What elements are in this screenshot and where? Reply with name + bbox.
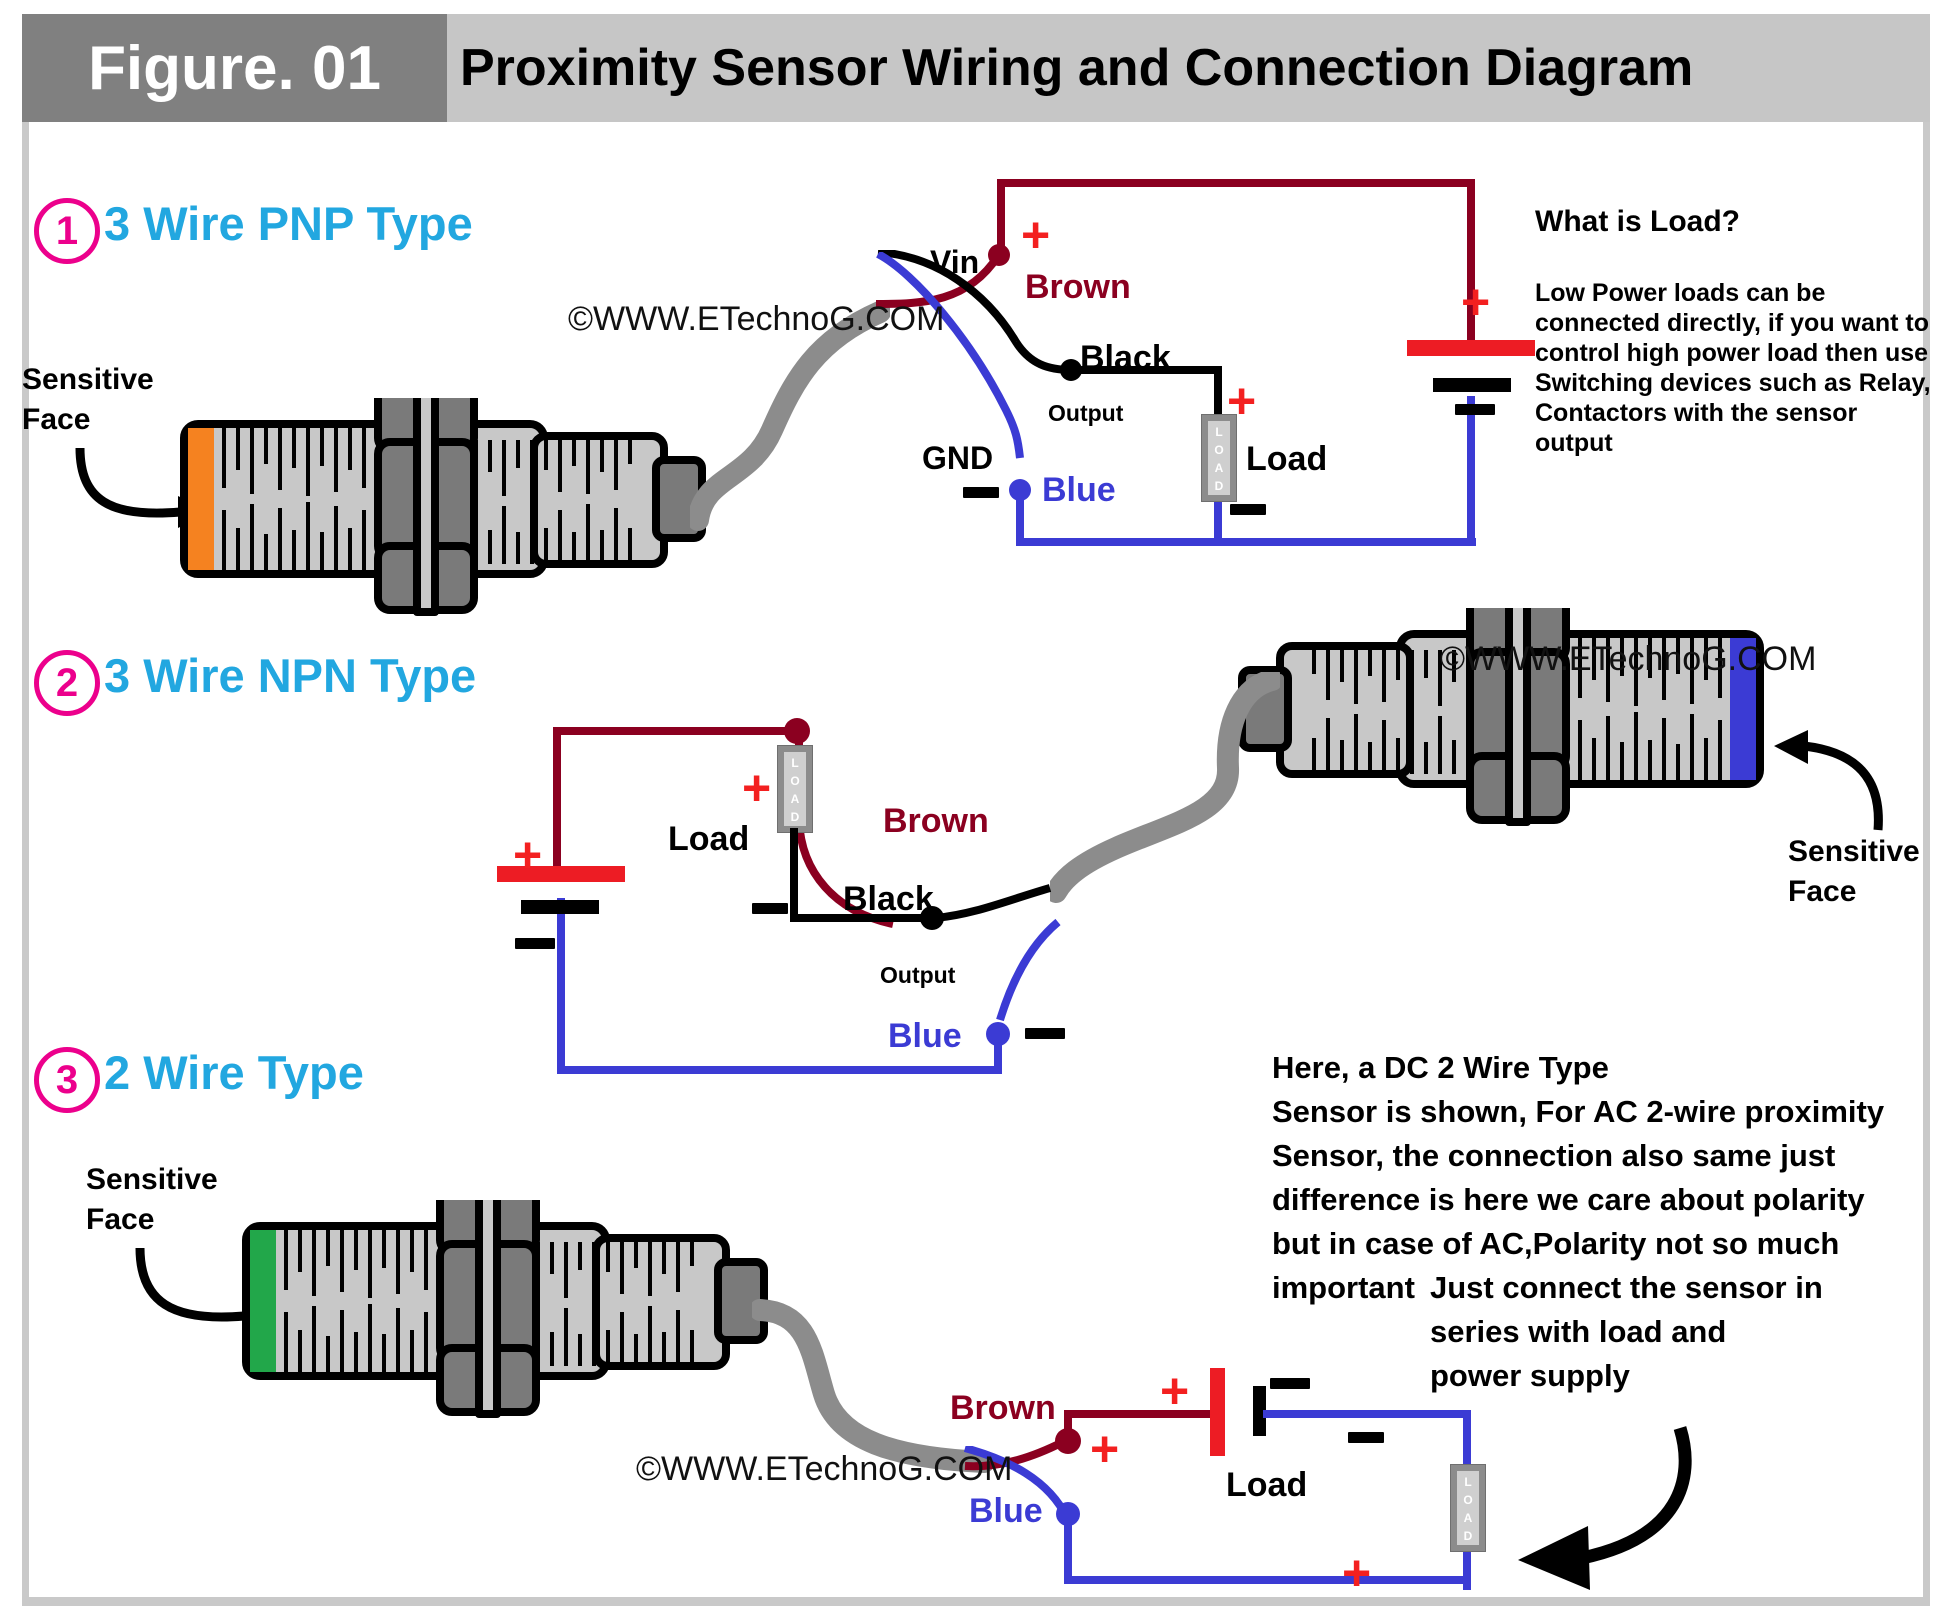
- sensor-cable-2: [1050, 672, 1280, 932]
- wire-blue-load-leg-pnp: [1214, 502, 1222, 542]
- load-symbol-text-npn: LOAD: [784, 752, 806, 826]
- sensitive-word-1: Sensitive: [22, 363, 154, 396]
- sensitive-face-label-2: Sensitive Face: [1788, 832, 1920, 912]
- watermark-3: ©WWW.ETechnoG.COM: [636, 1450, 1012, 1489]
- proximity-sensor-pnp: [176, 398, 706, 648]
- wire-brown-top-pnp: [997, 179, 1475, 187]
- junction-dot-brown-top-npn: [784, 718, 810, 744]
- label-blue-pnp: Blue: [1042, 471, 1116, 510]
- wire-blue-top-2wire: [1263, 1410, 1471, 1418]
- minus-sign-battery-npn: [515, 938, 555, 949]
- face-word-2: Face: [1788, 875, 1856, 908]
- label-output-pnp: Output: [1048, 400, 1123, 427]
- label-load-npn: Load: [668, 820, 749, 859]
- label-black-pnp: Black: [1080, 339, 1171, 378]
- wire-blue-to-battery-pnp: [1467, 396, 1475, 542]
- battery-positive-plate-pnp: [1407, 340, 1535, 356]
- page-title-text: Proximity Sensor Wiring and Connection D…: [460, 38, 1693, 98]
- label-blue-2wire: Blue: [969, 1492, 1043, 1531]
- minus-sign-load-2wire: [1348, 1432, 1384, 1443]
- label-brown-pnp: Brown: [1025, 268, 1131, 307]
- label-vin: Vin: [930, 244, 979, 281]
- sensitive-word-2: Sensitive: [1788, 835, 1920, 868]
- minus-sign-load-pnp: [1230, 504, 1266, 515]
- face-word-3: Face: [86, 1203, 154, 1236]
- wire-blue-bottom-npn: [557, 1066, 1001, 1074]
- label-brown-2wire: Brown: [950, 1389, 1056, 1428]
- label-black-npn: Black: [843, 880, 934, 919]
- plus-sign-battery-pnp: +: [1461, 277, 1490, 327]
- wire-black-v-pnp: [1214, 366, 1222, 416]
- battery-positive-plate-2wire: [1210, 1368, 1225, 1456]
- plus-sign-battery-2wire: +: [1160, 1366, 1189, 1416]
- figure-badge: Figure. 01: [22, 14, 447, 122]
- label-load-2wire: Load: [1226, 1466, 1307, 1505]
- minus-sign-battery-2wire: [1270, 1378, 1310, 1389]
- minus-sign-battery-pnp: [1455, 404, 1495, 415]
- minus-sign-blue-npn: [1025, 1028, 1065, 1039]
- label-load-pnp: Load: [1246, 440, 1327, 479]
- two-wire-note-right: Just connect the sensor in series with l…: [1430, 1266, 1950, 1398]
- minus-sign-gnd: [963, 487, 999, 498]
- battery-negative-plate-pnp: [1433, 378, 1511, 392]
- proximity-sensor-2wire: [238, 1200, 768, 1450]
- watermark-2: ©WWW.ETechnoG.COM: [1440, 640, 1816, 679]
- sensitive-face-label-3: Sensitive Face: [86, 1160, 218, 1240]
- minus-sign-load-npn: [752, 903, 788, 914]
- plus-sign-load-2wire: +: [1342, 1548, 1371, 1598]
- wire-black-load-leg-npn: [790, 828, 798, 920]
- section-number-1: 1: [34, 198, 100, 264]
- arrow-to-circuit-3: [1402, 1418, 1702, 1598]
- arrow-to-face-2: [1760, 718, 1900, 838]
- label-gnd: GND: [922, 440, 993, 477]
- label-output-npn: Output: [880, 962, 955, 989]
- wire-blue-bottom-pnp: [1016, 538, 1476, 546]
- what-is-load-heading: What is Load?: [1535, 205, 1740, 239]
- section-title-1: 3 Wire PNP Type: [104, 196, 473, 251]
- plus-sign-load-npn: +: [742, 763, 771, 813]
- junction-dot-blue-2wire: [1056, 1502, 1080, 1526]
- label-brown-npn: Brown: [883, 802, 989, 841]
- frame-border-bottom: [22, 1597, 1930, 1606]
- sensitive-word-3: Sensitive: [86, 1163, 218, 1196]
- section-number-3: 3: [34, 1047, 100, 1113]
- page-title: Proximity Sensor Wiring and Connection D…: [460, 14, 1693, 122]
- wire-brown-vert-pnp: [997, 179, 1005, 253]
- figure-badge-label: Figure. 01: [88, 33, 381, 104]
- plus-sign-load-pnp: +: [1227, 376, 1256, 426]
- sensitive-face-label-1: Sensitive Face: [22, 360, 154, 440]
- face-word-1: Face: [22, 403, 90, 436]
- plus-sign-vin: +: [1021, 210, 1050, 260]
- plus-sign-brown-2wire: +: [1090, 1424, 1119, 1474]
- section-title-3: 2 Wire Type: [104, 1045, 364, 1100]
- battery-negative-plate-npn: [521, 900, 599, 914]
- load-symbol-npn: LOAD: [777, 745, 813, 833]
- what-is-load-body: Low Power loads can be connected directl…: [1535, 278, 1935, 458]
- section-number-2: 2: [34, 650, 100, 716]
- section-title-2: 3 Wire NPN Type: [104, 648, 476, 703]
- wire-brown-left-npn: [553, 727, 561, 873]
- plus-sign-battery-npn: +: [513, 830, 542, 880]
- frame-border-left: [22, 122, 29, 1604]
- diagram-canvas: Figure. 01 Proximity Sensor Wiring and C…: [0, 0, 1952, 1624]
- label-blue-npn: Blue: [888, 1017, 962, 1056]
- wire-brown-top-npn: [553, 727, 803, 735]
- junction-dot-output-pnp: [1060, 359, 1082, 381]
- load-symbol-text-pnp: LOAD: [1208, 421, 1230, 495]
- watermark-1: ©WWW.ETechnoG.COM: [568, 300, 944, 339]
- wire-blue-left-npn: [557, 898, 565, 1070]
